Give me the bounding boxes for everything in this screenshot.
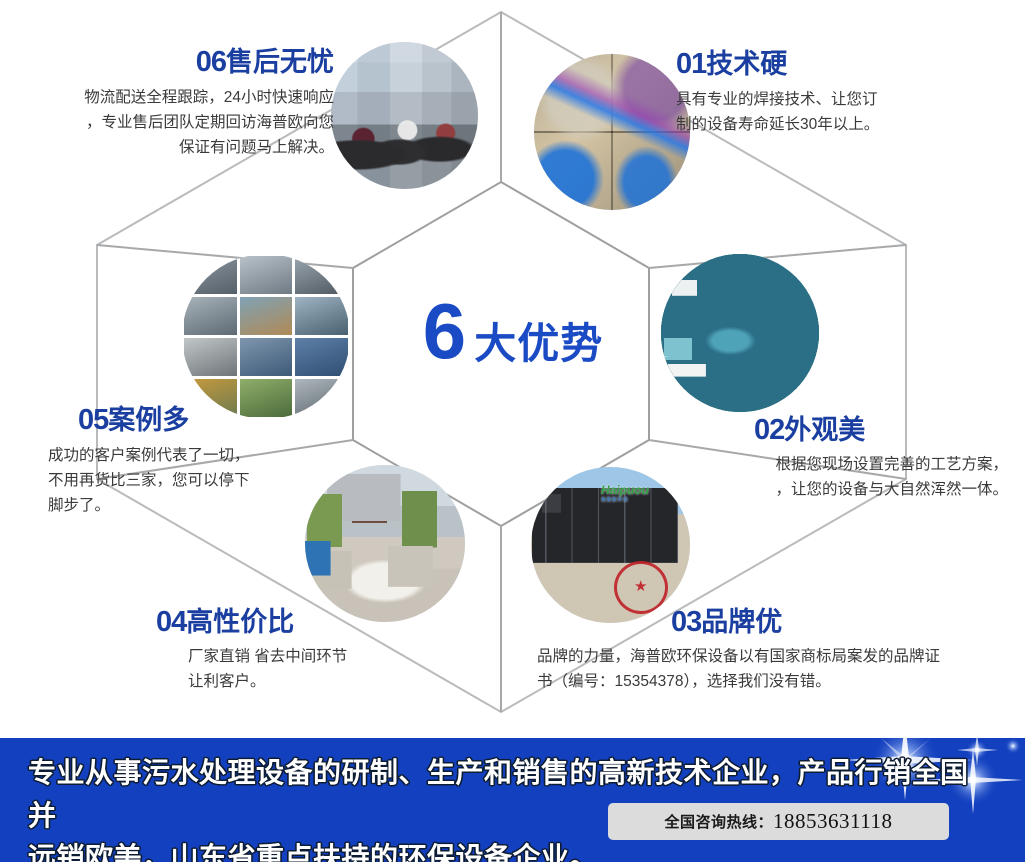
advantage-03-line: 书（编号：15354378），选择我们没有错。 bbox=[537, 669, 1007, 694]
advantage-06: 06售后无忧 物流配送全程跟踪，24小时快速响应 ，专业售后团队定期回访海普欧向… bbox=[14, 48, 334, 160]
case-thumb bbox=[184, 256, 237, 294]
advantage-06-body: 物流配送全程跟踪，24小时快速响应 ，专业售后团队定期回访海普欧向您 保证有问题… bbox=[14, 85, 334, 160]
advantage-01-number: 01 bbox=[676, 48, 706, 80]
advantage-06-title: 售后无忧 bbox=[226, 47, 334, 77]
advantage-06-line: 物流配送全程跟踪，24小时快速响应 bbox=[14, 85, 334, 110]
case-thumb bbox=[240, 338, 293, 376]
case-mosaic-grid bbox=[182, 254, 350, 419]
photo-office-staff bbox=[331, 42, 478, 189]
case-thumb bbox=[295, 338, 348, 376]
case-thumb bbox=[240, 256, 293, 294]
trademark-stamp-icon: ★ bbox=[614, 561, 668, 614]
photo-aerial-plant bbox=[661, 254, 819, 412]
advantage-05: 05案例多 成功的客户案例代表了一切， 不用再货比三家，您可以停下 脚步了。 bbox=[48, 406, 368, 518]
advantage-05-line: 成功的客户案例代表了一切， bbox=[48, 443, 368, 468]
star-icon: ★ bbox=[634, 579, 647, 596]
haipuou-brand-mark: Haipuou 海普欧环保 bbox=[601, 483, 649, 503]
advantage-01-body: 具有专业的焊接技术、让您订 制的设备寿命延长30年以上。 bbox=[676, 87, 1006, 137]
bottom-banner: 专业从事污水处理设备的研制、生产和销售的高新技术企业，产品行销全国并 远销欧美，… bbox=[0, 738, 1025, 862]
advantage-03: 03品牌优 品牌的力量，海普欧环保设备以有国家商标局案发的品牌证 书（编号：15… bbox=[537, 608, 1007, 694]
aerial-plant-image bbox=[661, 254, 819, 412]
advantage-05-number: 05 bbox=[78, 404, 108, 436]
advantage-06-heading: 06售后无忧 bbox=[14, 48, 334, 77]
advantage-01-heading: 01技术硬 bbox=[676, 50, 1006, 79]
advantage-04-number: 04 bbox=[156, 606, 186, 638]
advantage-01-line: 制的设备寿命延长30年以上。 bbox=[676, 112, 1006, 137]
advantage-02-title: 外观美 bbox=[784, 415, 865, 445]
case-thumb bbox=[184, 297, 237, 335]
advantage-04-body: 厂家直销 省去中间环节 让利客户。 bbox=[188, 644, 486, 694]
advantage-04-title: 高性价比 bbox=[186, 607, 294, 637]
advantage-04-line: 厂家直销 省去中间环节 bbox=[188, 644, 486, 669]
case-thumb bbox=[295, 256, 348, 294]
center-title: 6 大优势 bbox=[398, 296, 628, 371]
advantage-02-heading: 02外观美 bbox=[754, 416, 1008, 445]
hotline-box[interactable]: 全国咨询热线： 18853631118 bbox=[608, 803, 949, 840]
advantage-01-title: 技术硬 bbox=[706, 49, 787, 79]
advantage-04-heading: 04高性价比 bbox=[156, 608, 486, 637]
advantages-infographic: Haipuou 海普欧环保 ★ 6 大优势 06售后无忧 物流配送全程跟踪，24… bbox=[0, 0, 1025, 862]
advantage-03-line: 品牌的力量，海普欧环保设备以有国家商标局案发的品牌证 bbox=[537, 644, 1007, 669]
case-thumb bbox=[240, 297, 293, 335]
advantage-01-line: 具有专业的焊接技术、让您订 bbox=[676, 87, 1006, 112]
hotline-number: 18853631118 bbox=[773, 809, 892, 834]
office-staff-image bbox=[331, 42, 478, 189]
advantage-06-line: 保证有问题马上解决。 bbox=[14, 135, 334, 160]
advantage-03-heading: 03品牌优 bbox=[671, 608, 1007, 637]
advantage-06-line: ，专业售后团队定期回访海普欧向您 bbox=[14, 110, 334, 135]
advantage-03-title: 品牌优 bbox=[701, 607, 782, 637]
advantage-06-number: 06 bbox=[196, 46, 226, 78]
advantage-02-line: 根据您现场设置完善的工艺方案， bbox=[690, 452, 1008, 477]
advantage-01: 01技术硬 具有专业的焊接技术、让您订 制的设备寿命延长30年以上。 bbox=[676, 50, 1006, 137]
advantage-02-line: ，让您的设备与大自然浑然一体。 bbox=[690, 477, 1008, 502]
photo-welding-seam bbox=[534, 54, 690, 210]
center-number: 6 bbox=[423, 296, 464, 366]
center-label: 大优势 bbox=[474, 310, 603, 371]
advantage-02-number: 02 bbox=[754, 414, 784, 446]
advantage-03-number: 03 bbox=[671, 606, 701, 638]
case-thumb bbox=[184, 338, 237, 376]
advantage-05-body: 成功的客户案例代表了一切， 不用再货比三家，您可以停下 脚步了。 bbox=[48, 443, 368, 518]
advantage-05-title: 案例多 bbox=[108, 405, 189, 435]
advantage-02-body: 根据您现场设置完善的工艺方案， ，让您的设备与大自然浑然一体。 bbox=[690, 452, 1008, 502]
advantage-05-heading: 05案例多 bbox=[78, 406, 368, 435]
welding-seam-image bbox=[534, 54, 690, 210]
case-thumb bbox=[295, 297, 348, 335]
hotline-label: 全国咨询热线： bbox=[665, 811, 774, 832]
photo-case-mosaic bbox=[182, 254, 350, 419]
advantage-05-line: 不用再货比三家，您可以停下 bbox=[48, 468, 368, 493]
advantage-02: 02外观美 根据您现场设置完善的工艺方案， ，让您的设备与大自然浑然一体。 bbox=[690, 416, 1008, 502]
advantage-05-line: 脚步了。 bbox=[48, 493, 368, 518]
advantage-04-line: 让利客户。 bbox=[188, 669, 486, 694]
advantage-04: 04高性价比 厂家直销 省去中间环节 让利客户。 bbox=[156, 608, 486, 694]
advantage-03-body: 品牌的力量，海普欧环保设备以有国家商标局案发的品牌证 书（编号：15354378… bbox=[537, 644, 1007, 694]
banner-line-2: 远销欧美，山东省重点扶持的环保设备企业。 bbox=[28, 837, 988, 862]
photo-equipment-trademark: Haipuou 海普欧环保 ★ bbox=[531, 467, 690, 623]
